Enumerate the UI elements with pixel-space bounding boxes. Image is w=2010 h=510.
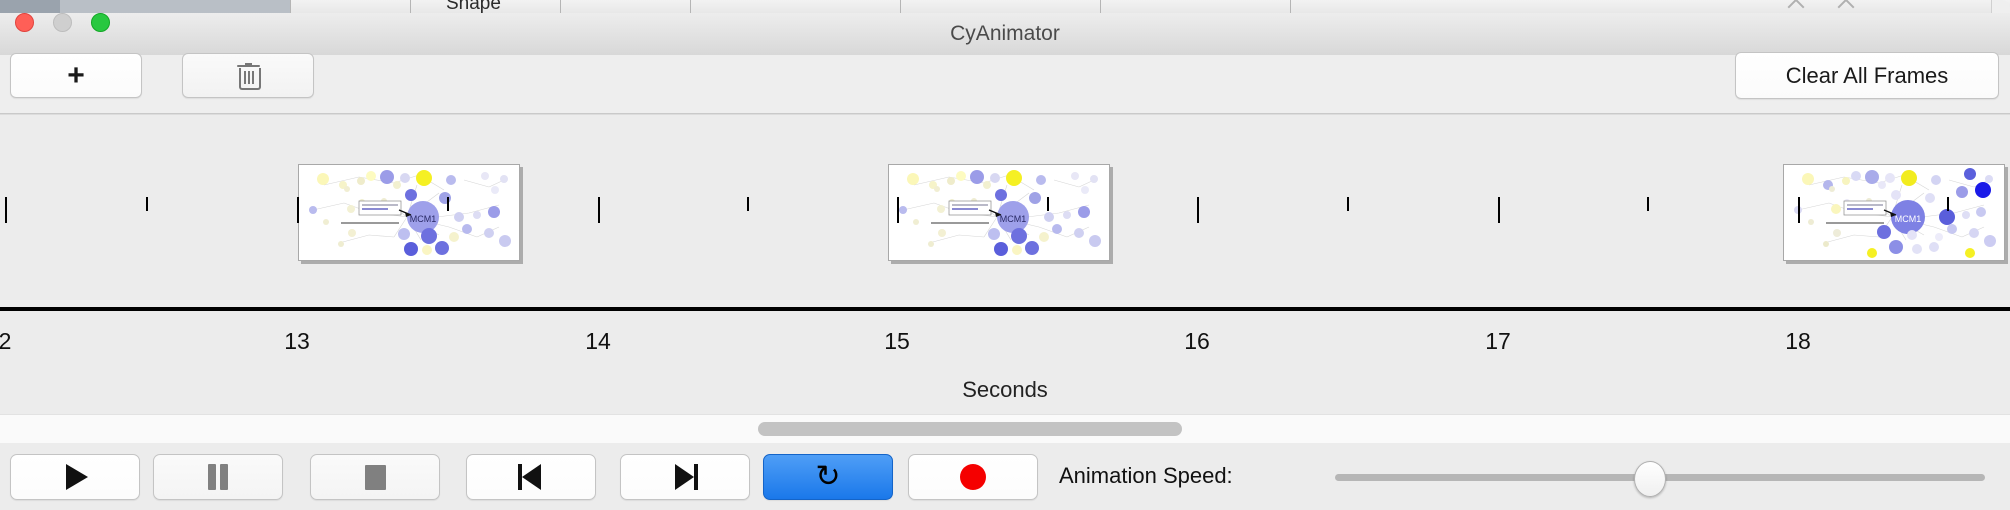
delete-frame-button[interactable] <box>182 53 314 98</box>
add-frame-button[interactable]: + <box>10 53 142 98</box>
network-thumbnail-graphic: MCM1 <box>889 165 1109 260</box>
timeline-frame-thumbnail[interactable]: MCM1 <box>888 164 1110 261</box>
svg-text:MCM1: MCM1 <box>1895 214 1922 224</box>
background-divider <box>1290 0 1291 13</box>
background-divider <box>410 0 411 13</box>
close-window-button[interactable] <box>15 13 34 32</box>
timeline-ruler[interactable] <box>0 307 2010 311</box>
first-frame-button[interactable] <box>466 454 596 500</box>
timeline-scrollbar-thumb[interactable] <box>758 422 1182 436</box>
cyanimator-window: Shape CyAnimator + Clear All Frames <box>0 0 2010 510</box>
background-divider <box>900 0 901 13</box>
minimize-window-button[interactable] <box>53 13 72 32</box>
ruler-label: 17 <box>1485 328 1511 355</box>
clear-all-frames-label: Clear All Frames <box>1786 63 1949 89</box>
timeline-top-divider <box>0 114 2010 115</box>
background-window-corner <box>1991 0 2010 13</box>
ruler-tick-minor <box>1647 197 1649 211</box>
maximize-window-button[interactable] <box>91 13 110 32</box>
ruler-tick-minor <box>447 197 449 211</box>
clear-all-frames-button[interactable]: Clear All Frames <box>1735 52 1999 99</box>
stop-icon <box>365 465 386 490</box>
pause-icon <box>206 464 230 490</box>
title-bar: CyAnimator <box>0 13 2010 56</box>
ruler-tick-major <box>897 197 899 223</box>
play-button[interactable] <box>10 454 140 500</box>
loop-icon: ↻ <box>815 462 840 492</box>
timeline-scrollbar[interactable] <box>0 414 2010 444</box>
record-icon <box>960 464 986 490</box>
ruler-label: 18 <box>1785 328 1811 355</box>
svg-text:MCM1: MCM1 <box>1000 214 1027 224</box>
pause-button[interactable] <box>153 454 283 500</box>
ruler-label: 16 <box>1184 328 1210 355</box>
skip-to-end-icon <box>672 464 698 490</box>
ruler-tick-minor <box>747 197 749 211</box>
animation-speed-label: Animation Speed: <box>1059 463 1233 489</box>
ruler-tick-minor <box>146 197 148 211</box>
stop-button[interactable] <box>310 454 440 500</box>
ruler-label: 14 <box>585 328 611 355</box>
ruler-label: 13 <box>284 328 310 355</box>
loop-button[interactable]: ↻ <box>763 454 893 500</box>
background-window-chip <box>0 0 60 13</box>
background-divider <box>290 0 291 13</box>
ruler-tick-major <box>1197 197 1199 223</box>
background-divider <box>1100 0 1101 13</box>
ruler-label: 15 <box>884 328 910 355</box>
trash-icon <box>237 63 260 89</box>
ruler-tick-minor <box>1347 197 1349 211</box>
ruler-tick-major <box>297 197 299 223</box>
background-divider <box>560 0 561 13</box>
timeline-frame-thumbnail[interactable]: MCM1 <box>1783 164 2005 261</box>
ruler-tick-minor <box>1047 197 1049 211</box>
network-thumbnail-graphic: MCM1 <box>299 165 519 260</box>
ruler-tick-major <box>1798 197 1800 223</box>
svg-text:MCM1: MCM1 <box>410 214 437 224</box>
ruler-tick-major <box>1498 197 1500 223</box>
network-thumbnail-graphic: MCM1 <box>1784 165 2004 260</box>
axis-title: Seconds <box>0 377 2010 403</box>
last-frame-button[interactable] <box>620 454 750 500</box>
skip-to-start-icon <box>518 464 544 490</box>
ruler-tick-minor <box>1947 197 1949 211</box>
ruler-tick-major <box>598 197 600 223</box>
play-icon <box>66 464 88 490</box>
plus-icon: + <box>67 61 85 91</box>
window-title: CyAnimator <box>0 13 2010 55</box>
background-divider <box>690 0 691 13</box>
timeline-frame-thumbnail[interactable]: MCM1 <box>298 164 520 261</box>
animation-speed-slider-thumb[interactable] <box>1634 461 1666 497</box>
background-window-chip <box>60 0 290 13</box>
ruler-label: 2 <box>0 328 11 355</box>
record-button[interactable] <box>908 454 1038 500</box>
playback-controls: ↻ Animation Speed: <box>0 443 2010 510</box>
timeline-panel[interactable]: MCM1 <box>0 114 2010 414</box>
ruler-tick-major <box>5 197 7 223</box>
